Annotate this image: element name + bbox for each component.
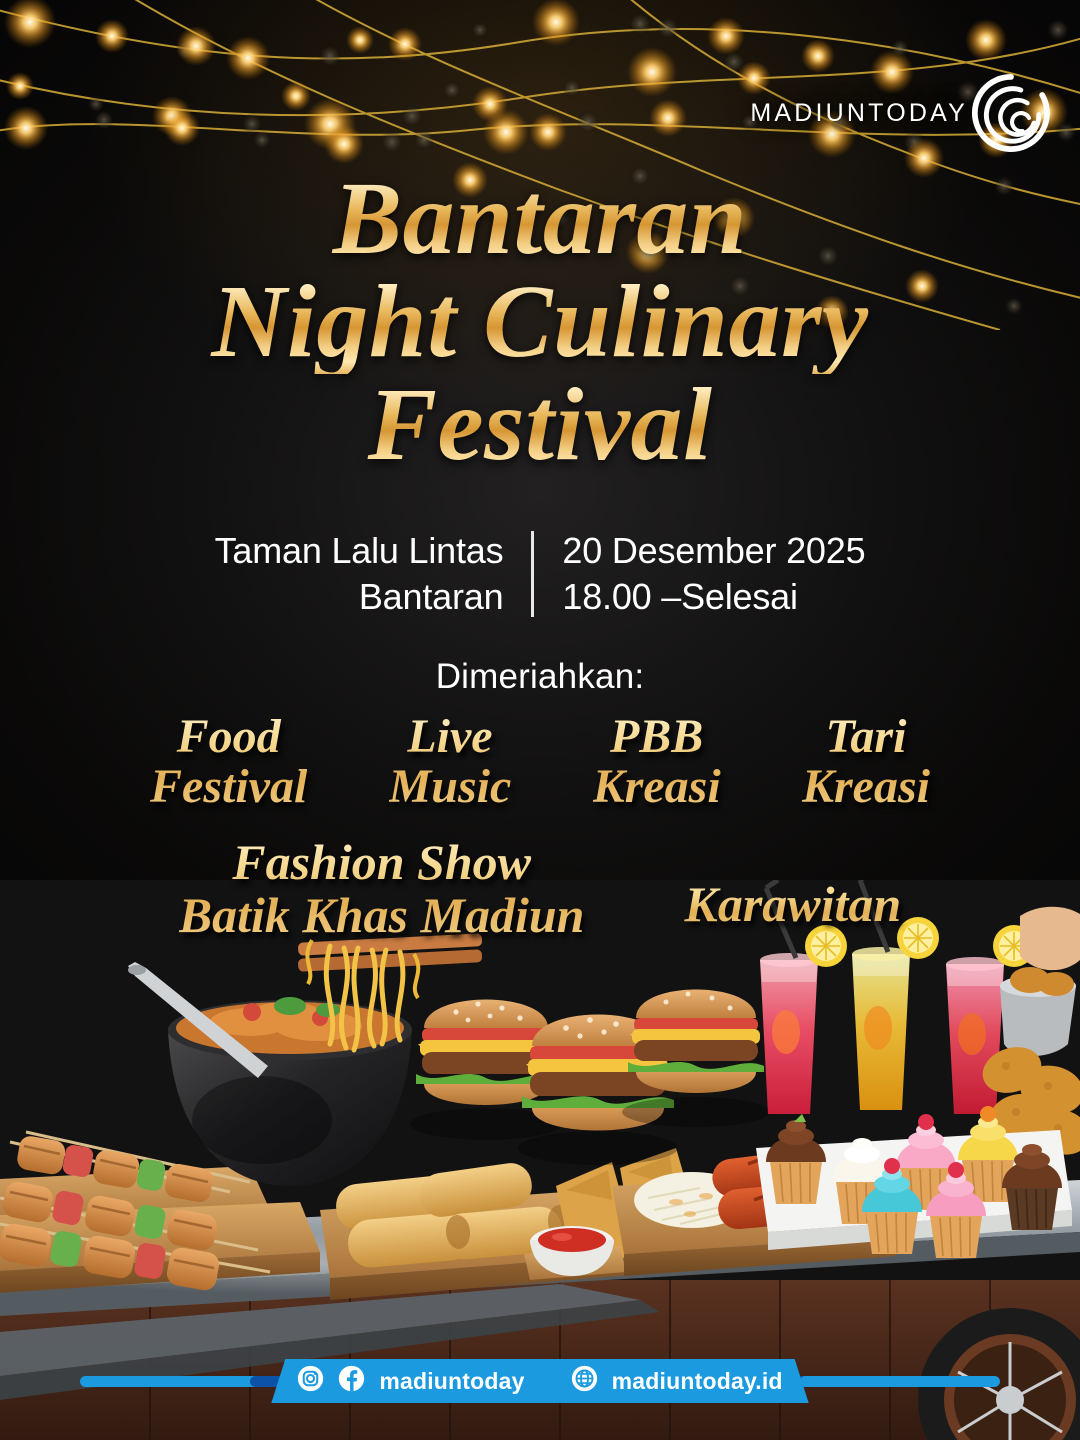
globe-icon[interactable] [571, 1365, 598, 1397]
website-handle[interactable]: madiuntoday.id [612, 1368, 783, 1395]
lineup-item-line-1: Food [150, 712, 307, 762]
food-spread-photo [0, 880, 1080, 1440]
lineup-item-line-2: Festival [150, 762, 307, 812]
lineup-item-line-2: Kreasi [802, 762, 930, 812]
poster-title: Bantaran Night Culinary Festival [0, 168, 1080, 477]
lineup-item-line-1: PBB [593, 712, 721, 762]
lineup-heading: Dimeriahkan: [0, 657, 1080, 697]
lineup-item-line-2: Music [389, 762, 512, 812]
lineup-item: PBB Kreasi [593, 712, 721, 813]
event-time: 18.00 –Selesai [562, 574, 865, 620]
lineup-item-line-1: Live [389, 712, 512, 762]
instagram-icon[interactable] [297, 1365, 324, 1397]
logo-wordmark: MADIUNTODAY [750, 99, 968, 128]
venue-line-2: Bantaran [215, 574, 504, 620]
swirl-arcs-icon [970, 72, 1052, 154]
event-date: 20 Desember 2025 [562, 528, 865, 574]
footer-plate: madiuntoday madiuntoday.id [271, 1359, 808, 1403]
social-handle-text: madiuntoday [379, 1368, 524, 1395]
footer-stripe-right-outer [800, 1376, 1000, 1387]
lineup-item: Tari Kreasi [802, 712, 930, 813]
brand-logo: MADIUNTODAY [750, 72, 1052, 154]
lineup-item: Food Festival [150, 712, 307, 813]
lineup-item-line-2: Batik Khas Madiun [179, 889, 585, 942]
title-line-3: Festival [0, 374, 1080, 477]
datetime-block: 20 Desember 2025 18.00 –Selesai [534, 528, 865, 620]
title-line-2: Night Culinary [0, 271, 1080, 374]
event-details: Taman Lalu Lintas Bantaran 20 Desember 2… [0, 528, 1080, 620]
lineup-item: Karawitan [684, 878, 901, 931]
lineup-item-line-1: Karawitan [684, 878, 901, 931]
title-line-1: Bantaran [0, 168, 1080, 271]
event-poster: MADIUNTODAY Bantaran Night Culinary Fest… [0, 0, 1080, 1440]
venue-line-1: Taman Lalu Lintas [215, 528, 504, 574]
lineup-item-line-2: Kreasi [593, 762, 721, 812]
social-handle[interactable]: madiuntoday [379, 1368, 524, 1395]
lineup-item: Live Music [389, 712, 512, 813]
lineup-row-1: Food Festival Live Music PBB Kreasi Tari… [150, 712, 930, 813]
facebook-icon[interactable] [338, 1365, 365, 1397]
lineup-item: Fashion Show Batik Khas Madiun [179, 836, 585, 941]
venue-block: Taman Lalu Lintas Bantaran [215, 528, 532, 620]
footer-social-bar: madiuntoday madiuntoday.id [0, 1358, 1080, 1404]
lineup-item-line-1: Fashion Show [179, 836, 585, 889]
website-text: madiuntoday.id [612, 1368, 783, 1395]
lineup-item-line-1: Tari [802, 712, 930, 762]
lineup-row-2: Fashion Show Batik Khas Madiun Karawitan [0, 836, 1080, 941]
